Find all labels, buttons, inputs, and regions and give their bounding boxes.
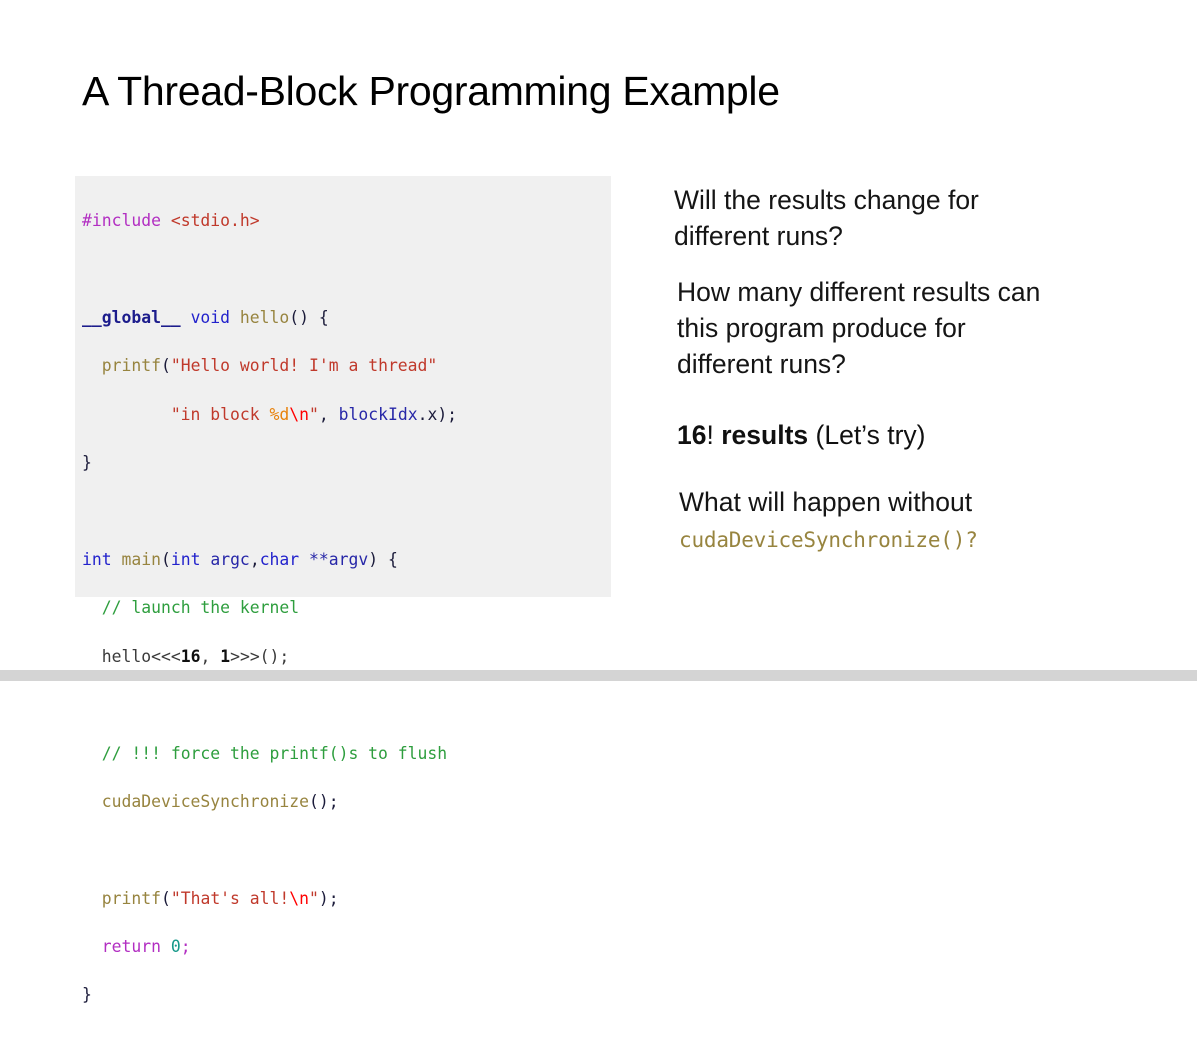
token-indent	[82, 356, 102, 375]
token-keyword-int: int	[82, 550, 112, 569]
answer-space2	[808, 420, 815, 450]
code-line-blank	[82, 693, 611, 717]
code-line: return 0;	[82, 935, 611, 959]
answer-suffix: (Let’s try)	[816, 420, 926, 450]
token-keyword-int2: int	[171, 550, 201, 569]
token-launch-open: <<<	[151, 647, 181, 666]
code-line: // !!! force the printf()s to flush	[82, 742, 611, 766]
question-results-change: Will the results change for different ru…	[674, 182, 1054, 254]
token-punct: ) {	[368, 550, 398, 569]
token-semicolon: ;	[181, 937, 191, 956]
token-indent	[82, 647, 102, 666]
code-panel: #include <stdio.h> __global__ void hello…	[75, 176, 611, 597]
token-escape-newline: \n	[289, 405, 309, 424]
bottom-bar	[0, 670, 1197, 681]
token-string-hello: "Hello world! I'm a thread"	[171, 356, 437, 375]
code-line: printf("That's all!\n");	[82, 887, 611, 911]
token-keyword-void: void	[191, 308, 230, 327]
token-var-argv: **	[309, 550, 329, 569]
token-var-argc: argc	[210, 550, 249, 569]
token-preprocessor: #include	[82, 211, 161, 230]
token-punct: () {	[289, 308, 328, 327]
token-indent	[82, 889, 102, 908]
code-line: cudaDeviceSynchronize();	[82, 790, 611, 814]
answer-bang: !	[706, 420, 713, 450]
token-indent	[82, 937, 102, 956]
code-line-blank	[82, 500, 611, 524]
token-escape-newline2: \n	[289, 889, 309, 908]
token-punct: ,	[200, 647, 220, 666]
token-string-open: "in block	[171, 405, 270, 424]
answer-count: 16	[677, 420, 706, 450]
code-line-blank	[82, 838, 611, 862]
token-fn-main: main	[121, 550, 160, 569]
token-space	[112, 550, 122, 569]
token-punct: ();	[309, 792, 339, 811]
page-title: A Thread-Block Programming Example	[82, 68, 780, 115]
token-keyword-char: char	[260, 550, 299, 569]
inline-code-cuda-sync: cudaDeviceSynchronize()?	[679, 522, 1069, 558]
code-line: }	[82, 983, 611, 1007]
token-fn-printf: printf	[102, 356, 161, 375]
token-punct: ,	[250, 550, 260, 569]
token-indent	[82, 744, 102, 763]
token-punct: (	[161, 550, 171, 569]
answer-results-word: results	[721, 420, 808, 450]
token-format-spec: %d	[270, 405, 290, 424]
token-string-close: "	[309, 405, 319, 424]
token-space	[299, 550, 309, 569]
token-brace-close: }	[82, 453, 92, 472]
answer-16-results: 16! results (Let’s try)	[677, 417, 1067, 453]
token-indent	[82, 598, 102, 617]
code-line: __global__ void hello() {	[82, 306, 611, 330]
token-fn-cuda-sync: cudaDeviceSynchronize	[102, 792, 309, 811]
token-punct: (	[161, 356, 171, 375]
question-without-sync: What will happen without cudaDeviceSynch…	[679, 484, 1069, 558]
token-punct: ,	[319, 405, 339, 424]
token-space	[161, 937, 171, 956]
token-return-value: 0	[171, 937, 181, 956]
token-punct: (	[161, 889, 171, 908]
code-line: printf("Hello world! I'm a thread"	[82, 354, 611, 378]
token-space	[230, 308, 240, 327]
code-line: }	[82, 451, 611, 475]
code-block: #include <stdio.h> __global__ void hello…	[82, 185, 611, 1056]
token-launch-close: >>>();	[230, 647, 289, 666]
token-indent	[82, 792, 102, 811]
question-without-sync-text: What will happen without	[679, 487, 972, 517]
token-fn-hello: hello	[240, 308, 289, 327]
token-comment-launch: // launch the kernel	[102, 598, 299, 617]
question-how-many-results: How many different results can this prog…	[677, 274, 1057, 382]
token-header: <stdio.h>	[171, 211, 260, 230]
token-var-argv-name: argv	[329, 550, 368, 569]
token-comment-flush: // !!! force the printf()s to flush	[102, 744, 447, 763]
token-space	[181, 308, 191, 327]
token-space	[161, 211, 171, 230]
token-string-close2: "	[309, 889, 319, 908]
code-line: // launch the kernel	[82, 596, 611, 620]
token-grid-dim: 16	[181, 647, 201, 666]
token-fn-printf2: printf	[102, 889, 161, 908]
code-line: hello<<<16, 1>>>();	[82, 645, 611, 669]
token-space	[200, 550, 210, 569]
token-keyword-return: return	[102, 937, 161, 956]
token-brace-close2: }	[82, 985, 92, 1004]
token-punct: );	[319, 889, 339, 908]
token-global-qualifier: __global__	[82, 308, 181, 327]
token-call-hello: hello	[102, 647, 151, 666]
token-var-blockidx: blockIdx	[339, 405, 418, 424]
token-string-thats-all: "That's all!	[171, 889, 289, 908]
token-punct: .x);	[418, 405, 457, 424]
code-line: "in block %d\n", blockIdx.x);	[82, 403, 611, 427]
token-indent	[82, 405, 171, 424]
code-line: #include <stdio.h>	[82, 209, 611, 233]
code-line: int main(int argc,char **argv) {	[82, 548, 611, 572]
token-block-dim: 1	[220, 647, 230, 666]
code-line-blank	[82, 258, 611, 282]
